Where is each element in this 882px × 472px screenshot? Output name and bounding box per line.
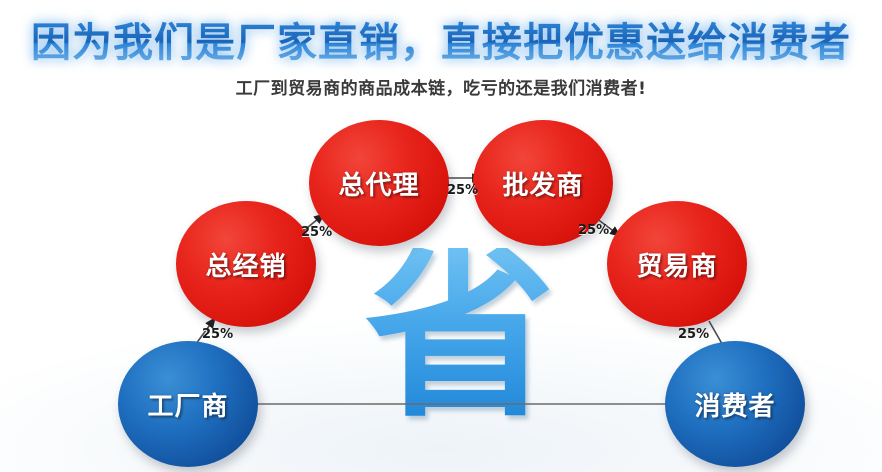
node-consumer-label: 消费者	[694, 386, 775, 423]
edge-label-agent-to-wholesale: 25%	[447, 183, 478, 198]
node-factory[interactable]: 工厂商	[118, 341, 258, 467]
node-general-distributor-label: 总经销	[205, 246, 286, 283]
node-trader-label: 贸易商	[636, 246, 717, 283]
node-factory-label: 工厂商	[147, 386, 228, 423]
edge-label-wholesale-to-trader: 25%	[578, 223, 609, 238]
promo-banner: 因为我们是厂家直销，直接把优惠送给消费者 因为我们是厂家直销，直接把优惠送给消费…	[0, 0, 882, 472]
node-general-distributor[interactable]: 总经销	[176, 201, 316, 327]
node-consumer[interactable]: 消费者	[665, 341, 805, 467]
node-general-agent-label: 总代理	[338, 165, 419, 202]
node-wholesaler-label: 批发商	[502, 165, 583, 202]
edge-label-trader-to-consumer: 25%	[678, 327, 709, 342]
edge-label-general-to-agent: 25%	[301, 225, 332, 240]
node-trader[interactable]: 贸易商	[607, 201, 747, 327]
edge-label-factory-to-general: 25%	[202, 327, 233, 342]
